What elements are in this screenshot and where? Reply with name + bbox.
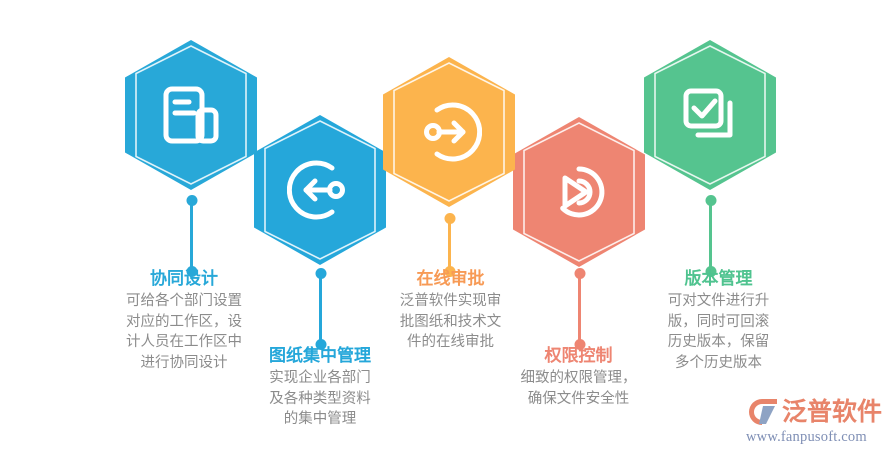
text-block-version-management: 版本管理可对文件进行升 版，同时可回滚 历史版本，保留 多个历史版本	[646, 268, 791, 373]
text-block-collaborative-design: 协同设计可给各个部门设置 对应的工作区，设 计人员在工作区中 进行协同设计	[104, 268, 264, 373]
brand-url: www.fanpusoft.com	[746, 429, 882, 446]
connector-version-management	[709, 200, 712, 272]
access-pie-icon	[546, 159, 612, 225]
hexagon-online-approval[interactable]	[383, 57, 515, 207]
block-body: 实现企业各部门 及各种类型资料 的集中管理	[245, 368, 395, 430]
block-title: 在线审批	[378, 268, 523, 290]
infographic-canvas: 协同设计可给各个部门设置 对应的工作区，设 计人员在工作区中 进行协同设计图纸集…	[0, 0, 894, 456]
hexagon-version-management[interactable]	[644, 40, 776, 190]
connector-permission-control	[578, 273, 581, 345]
connector-dot-top	[574, 268, 585, 279]
block-body: 可给各个部门设置 对应的工作区，设 计人员在工作区中 进行协同设计	[104, 291, 264, 373]
block-title: 权限控制	[511, 345, 646, 367]
connector-drawing-central-management	[319, 273, 322, 345]
checked-stack-icon	[677, 82, 743, 148]
brand-name: 泛普软件	[782, 397, 882, 427]
block-body: 细致的权限管理， 确保文件安全性	[511, 368, 646, 409]
text-block-drawing-central-management: 图纸集中管理实现企业各部门 及各种类型资料 的集中管理	[245, 345, 395, 430]
block-body: 泛普软件实现审 批图纸和技术文 件的在线审批	[378, 291, 523, 353]
document-book-icon	[158, 82, 224, 148]
block-title: 版本管理	[646, 268, 791, 290]
hexagon-permission-control[interactable]	[513, 117, 645, 267]
brand-logo: 泛普软件 www.fanpusoft.com	[746, 396, 882, 448]
connector-online-approval	[448, 218, 451, 272]
hexagon-collaborative-design[interactable]	[125, 40, 257, 190]
connector-dot-top	[705, 195, 716, 206]
block-body: 可对文件进行升 版，同时可回滚 历史版本，保留 多个历史版本	[646, 291, 791, 373]
connector-dot-top	[444, 213, 455, 224]
text-block-online-approval: 在线审批泛普软件实现审 批图纸和技术文 件的在线审批	[378, 268, 523, 353]
arrow-in-circle-left-icon	[287, 157, 353, 223]
text-block-permission-control: 权限控制细致的权限管理， 确保文件安全性	[511, 345, 646, 409]
hexagon-drawing-central-management[interactable]	[254, 115, 386, 265]
arrow-out-circle-right-icon	[416, 99, 482, 165]
fanpu-logo-mark-icon	[746, 397, 780, 427]
connector-dot-top	[186, 195, 197, 206]
connector-dot-top	[315, 268, 326, 279]
block-title: 图纸集中管理	[245, 345, 395, 367]
block-title: 协同设计	[104, 268, 264, 290]
connector-collaborative-design	[190, 200, 193, 272]
